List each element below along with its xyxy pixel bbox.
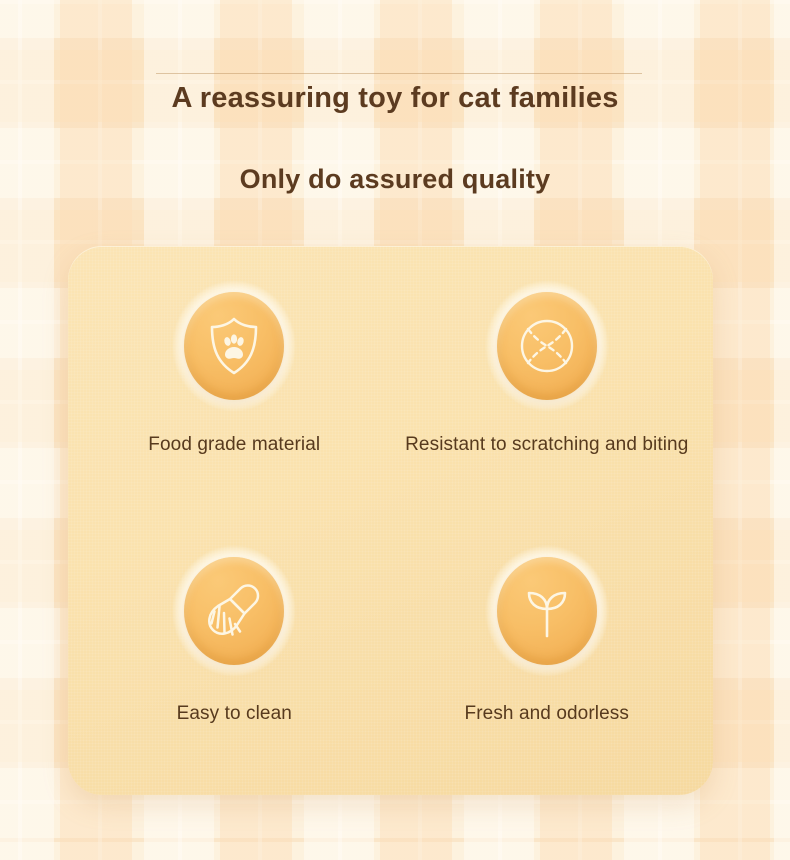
feature-item-fresh-odorless[interactable]: Fresh and odorless: [391, 521, 704, 762]
feature-item-food-grade-material[interactable]: Food grade material: [78, 280, 391, 521]
header: A reassuring toy for cat families Only d…: [0, 0, 790, 215]
icon-disc: [184, 292, 284, 400]
feature-item-scratch-resistant[interactable]: Resistant to scratching and biting: [391, 280, 704, 521]
feature-item-easy-to-clean[interactable]: Easy to clean: [78, 521, 391, 762]
header-divider-rule: [156, 73, 642, 74]
shield-paw-icon: [206, 315, 262, 377]
page-title: A reassuring toy for cat families: [0, 80, 790, 116]
feature-label: Fresh and odorless: [465, 703, 629, 725]
feature-label: Resistant to scratching and biting: [405, 434, 688, 456]
brush-icon: [204, 580, 264, 642]
icon-disc: [497, 292, 597, 400]
icon-badge: [172, 545, 296, 677]
ball-icon: [516, 315, 578, 377]
icon-badge: [485, 280, 609, 412]
feature-card: Food grade material Resistant to scratch…: [68, 246, 713, 795]
icon-badge: [485, 545, 609, 677]
feature-grid: Food grade material Resistant to scratch…: [68, 246, 713, 795]
sprout-icon: [519, 580, 575, 642]
feature-label: Easy to clean: [177, 703, 292, 725]
page-subtitle: Only do assured quality: [0, 161, 790, 197]
icon-badge: [172, 280, 296, 412]
feature-label: Food grade material: [148, 434, 320, 456]
icon-disc: [184, 557, 284, 665]
icon-disc: [497, 557, 597, 665]
